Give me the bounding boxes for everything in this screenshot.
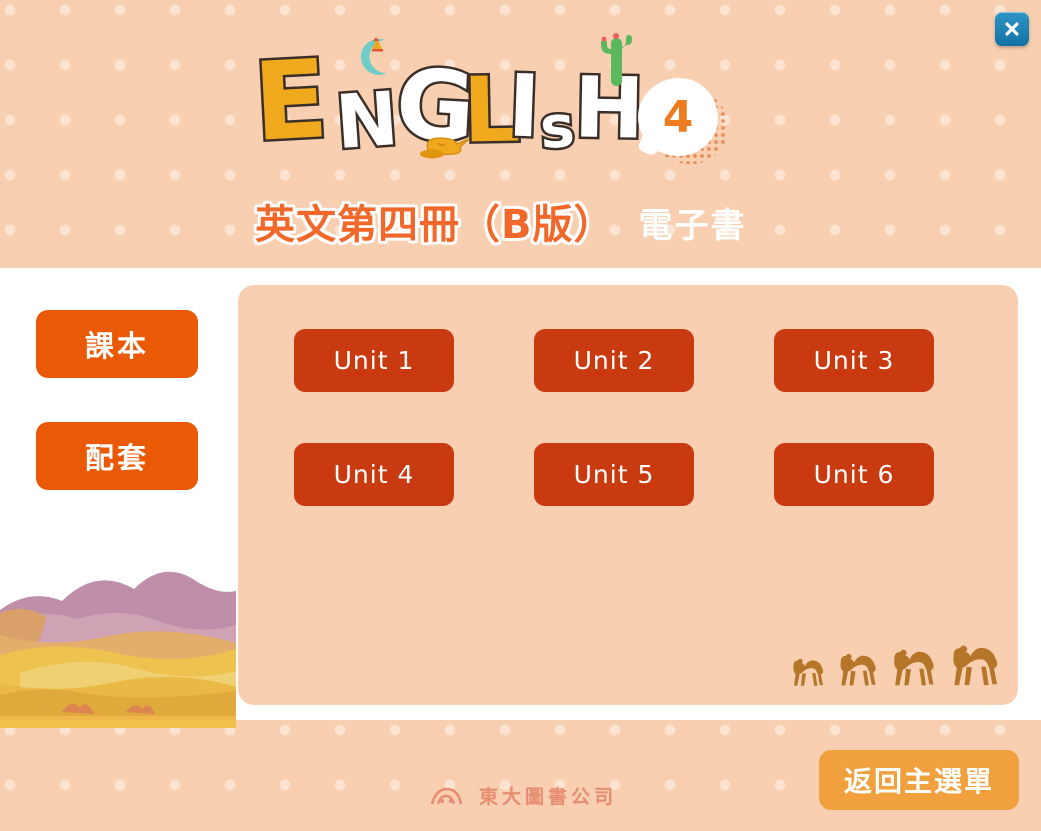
english-wordmark: E N G L I s H bbox=[248, 36, 628, 166]
logo-letter-n: N bbox=[333, 82, 400, 160]
sidebar-item-textbook[interactable]: 課本 bbox=[36, 310, 198, 378]
camel-caravan bbox=[787, 637, 1000, 687]
camel-icon bbox=[944, 637, 1000, 687]
subtitle-ebook-label: 電子書 bbox=[639, 198, 747, 250]
footer-desert-edge bbox=[0, 720, 236, 728]
subtitle-row: 英文第四冊（B版） 電子書 bbox=[255, 192, 747, 250]
logo-letter-s: s bbox=[539, 97, 577, 157]
camel-icon bbox=[833, 647, 878, 687]
desert-illustration bbox=[0, 555, 236, 720]
subtitle-main: 英文第四冊（B版） bbox=[255, 192, 615, 250]
badge-number: 4 bbox=[638, 78, 718, 156]
unit-grid: Unit 1 Unit 2 Unit 3 Unit 4 Unit 5 Unit … bbox=[294, 329, 994, 506]
sidebar: 課本 配套 bbox=[36, 310, 198, 534]
unit-button-2[interactable]: Unit 2 bbox=[534, 329, 694, 392]
volume-badge: 4 bbox=[636, 76, 732, 166]
close-button[interactable] bbox=[995, 12, 1029, 46]
publisher-name: 東大圖書公司 bbox=[479, 782, 617, 809]
app-root: E N G L I s H bbox=[0, 0, 1041, 831]
logo-letter-e: E bbox=[251, 46, 330, 158]
return-to-main-menu-button[interactable]: 返回主選單 bbox=[819, 750, 1019, 810]
unit-button-6[interactable]: Unit 6 bbox=[774, 443, 934, 506]
camel-icon bbox=[886, 642, 936, 687]
header-banner: E N G L I s H bbox=[0, 0, 1041, 268]
publisher-mark-icon bbox=[430, 786, 470, 806]
unit-button-1[interactable]: Unit 1 bbox=[294, 329, 454, 392]
logo-letter-i: I bbox=[507, 63, 542, 150]
unit-button-4[interactable]: Unit 4 bbox=[294, 443, 454, 506]
unit-panel: Unit 1 Unit 2 Unit 3 Unit 4 Unit 5 Unit … bbox=[238, 285, 1018, 705]
unit-button-5[interactable]: Unit 5 bbox=[534, 443, 694, 506]
desert-landscape-icon bbox=[0, 555, 236, 720]
camel-icon bbox=[787, 653, 825, 687]
magic-lamp-icon bbox=[416, 128, 472, 162]
publisher-logo: 東大圖書公司 bbox=[430, 782, 617, 809]
sidebar-item-supplementary[interactable]: 配套 bbox=[36, 422, 198, 490]
unit-button-3[interactable]: Unit 3 bbox=[774, 329, 934, 392]
close-icon bbox=[1003, 20, 1021, 38]
cactus-icon bbox=[596, 28, 636, 86]
content-area: 課本 配套 Unit 1 Unit 2 Unit 3 Unit 4 Unit 5… bbox=[0, 268, 1041, 720]
crescent-moon-icon bbox=[352, 34, 398, 80]
